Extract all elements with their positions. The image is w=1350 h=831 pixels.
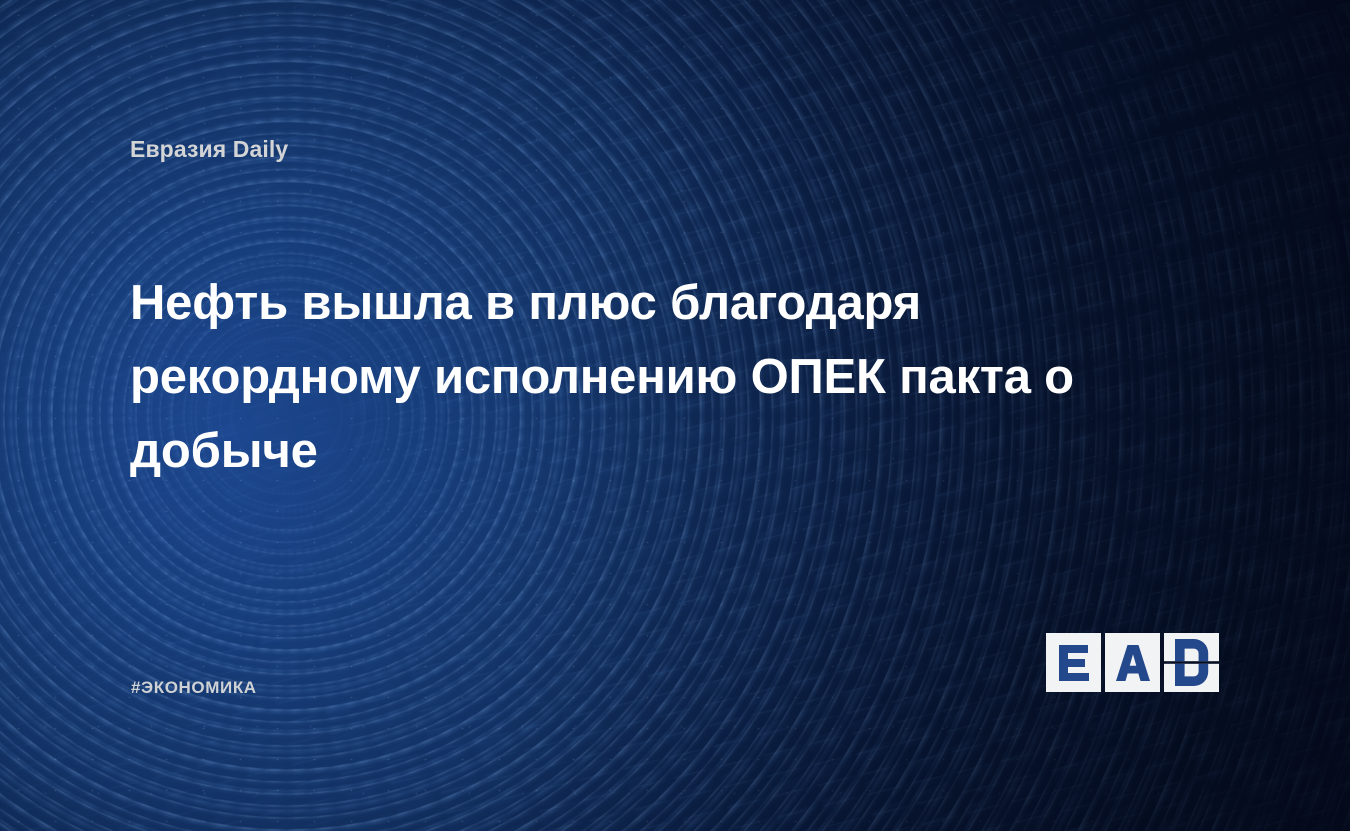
logo-letter-a-icon <box>1114 643 1152 683</box>
share-card: Евразия Daily Нефть вышла в плюс благода… <box>0 0 1350 831</box>
page-title: Нефть вышла в плюс благодаря рекордному … <box>130 266 1140 488</box>
logo-letter-e-icon <box>1057 643 1091 683</box>
logo-letter-d-icon <box>1164 633 1219 692</box>
logo-tile-d <box>1164 633 1219 692</box>
category-tag: #ЭКОНОМИКА <box>131 678 257 698</box>
eadaily-logo <box>1046 633 1220 692</box>
brand-name: Евразия Daily <box>130 136 288 163</box>
logo-tile-a <box>1105 633 1160 692</box>
logo-tile-e <box>1046 633 1101 692</box>
card-content: Евразия Daily Нефть вышла в плюс благода… <box>0 0 1350 831</box>
